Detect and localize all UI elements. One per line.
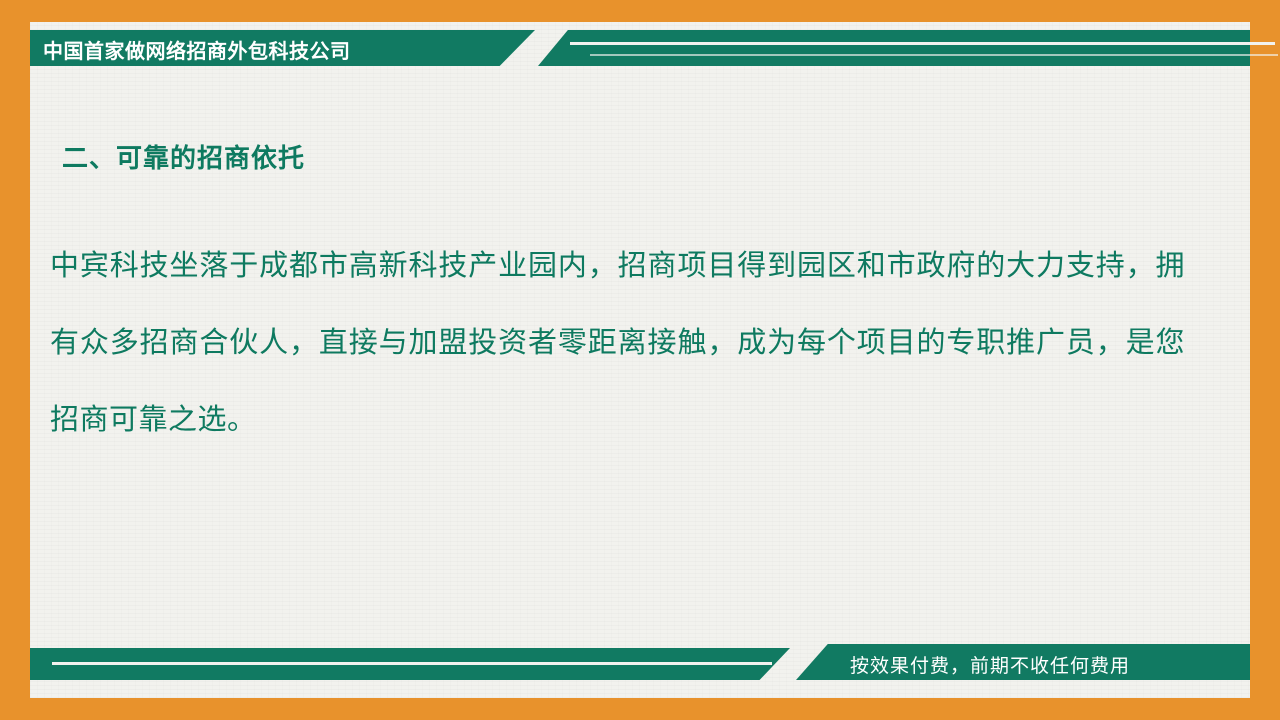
- body-paragraph: 中宾科技坐落于成都市高新科技产业园内，招商项目得到园区和市政府的大力支持，拥有众…: [50, 228, 1185, 459]
- header-title: 中国首家做网络招商外包科技公司: [43, 35, 351, 64]
- header-stripe-secondary: [590, 54, 1278, 56]
- footer-tagline: 按效果付费，前期不收任何费用: [850, 651, 1130, 678]
- header-stripe-primary: [570, 42, 1275, 45]
- header-right-banner: [538, 30, 1250, 66]
- slide-canvas: 中国首家做网络招商外包科技公司 二、可靠的招商依托 中宾科技坐落于成都市高新科技…: [0, 0, 1280, 720]
- footer-stripe: [52, 662, 772, 665]
- header-band: 中国首家做网络招商外包科技公司: [30, 30, 1250, 66]
- section-heading: 二、可靠的招商依托: [62, 138, 305, 175]
